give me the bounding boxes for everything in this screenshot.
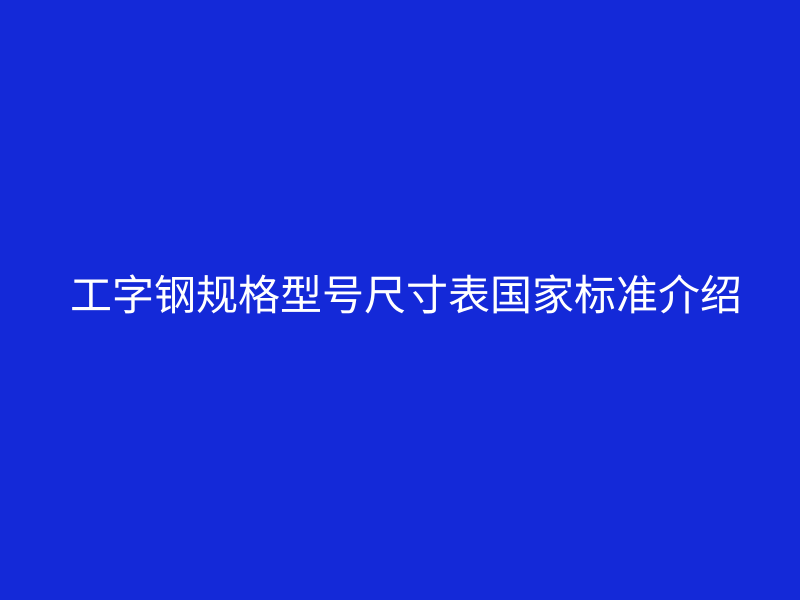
headline-container: 工字钢规格型号尺寸表国家标准介绍	[0, 0, 800, 600]
page-title: 工字钢规格型号尺寸表国家标准介绍	[0, 274, 742, 318]
title-banner: 工字钢规格型号尺寸表国家标准介绍	[0, 0, 800, 600]
